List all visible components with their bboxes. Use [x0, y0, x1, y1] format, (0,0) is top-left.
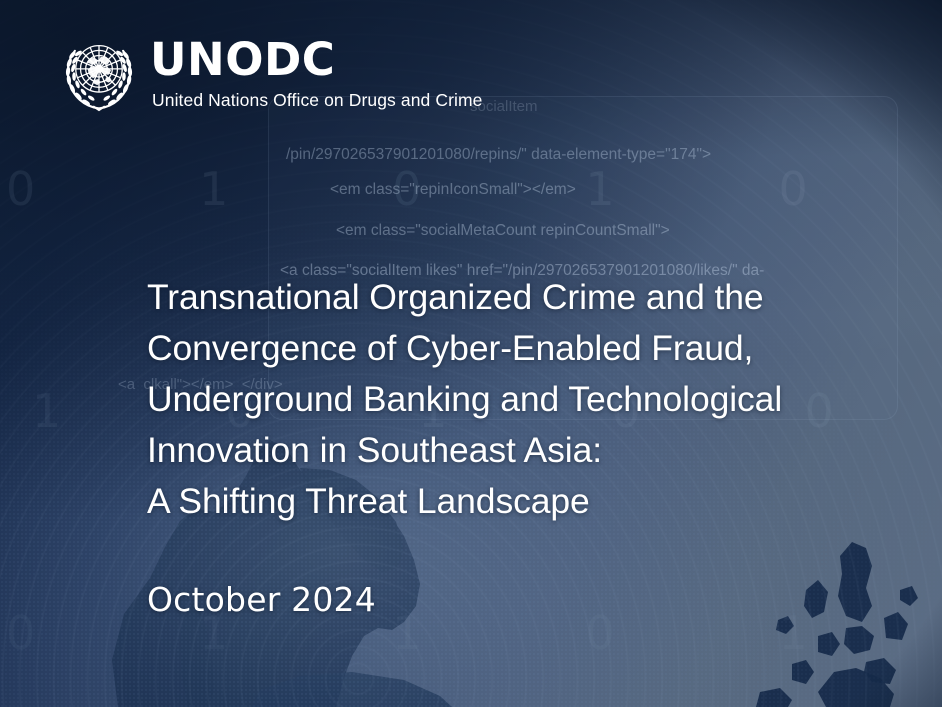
title-line: A Shifting Threat Landscape: [147, 476, 887, 527]
title-line: Convergence of Cyber-Enabled Fraud,: [147, 323, 887, 374]
publication-date: October 2024: [147, 580, 376, 619]
title-line: Underground Banking and Technological: [147, 374, 887, 425]
logo-wordmark: UNODC United Nations Office on Drugs and…: [150, 31, 483, 111]
un-emblem-icon: [56, 31, 142, 117]
logo-subtitle: United Nations Office on Drugs and Crime: [152, 89, 483, 111]
unodc-logo: UNODC United Nations Office on Drugs and…: [56, 31, 483, 117]
report-cover-page: 0 1 0 1 0 1 1 0 0 1 0 1 0 1 0 0 1 0 1 0 …: [0, 0, 942, 707]
title-line: Innovation in Southeast Asia:: [147, 425, 887, 476]
title-line: Transnational Organized Crime and the: [147, 272, 887, 323]
logo-acronym: UNODC: [150, 36, 483, 84]
report-title: Transnational Organized Crime and the Co…: [147, 272, 887, 527]
